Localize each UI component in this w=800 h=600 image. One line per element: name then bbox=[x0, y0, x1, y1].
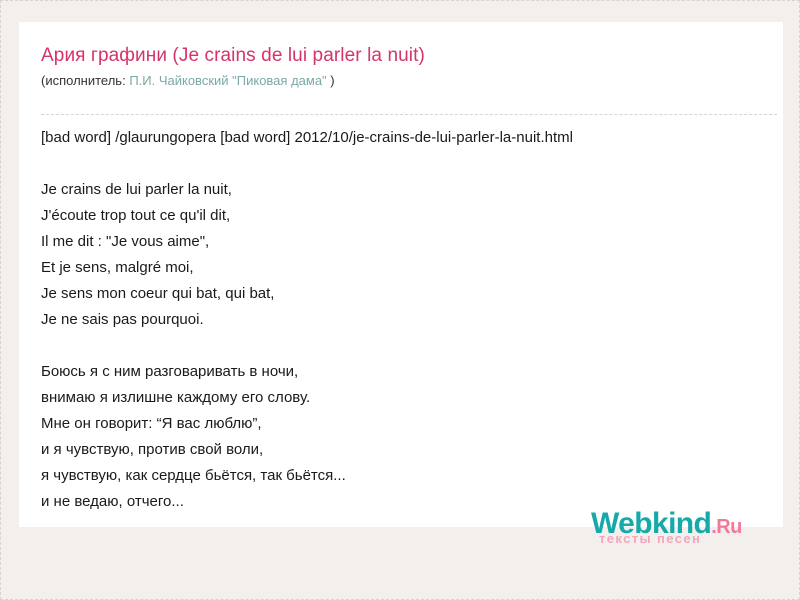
lyric-line: я чувствую, как сердце бьётся, так бьётс… bbox=[41, 463, 769, 489]
performer-link[interactable]: П.И. Чайковский "Пиковая дама" bbox=[129, 73, 326, 88]
performer-line: (исполнитель: П.И. Чайковский "Пиковая д… bbox=[41, 73, 767, 89]
performer-paren-close: ) bbox=[330, 73, 334, 88]
lyric-line: J'écoute trop tout ce qu'il dit, bbox=[41, 203, 769, 229]
lyric-line: Il me dit : "Je vous aime", bbox=[41, 229, 769, 255]
lyric-line: внимаю я излишне каждому его слову. bbox=[41, 385, 769, 411]
song-header: Ария графини (Je crains de lui parler la… bbox=[41, 44, 767, 89]
page-background: Ария графини (Je crains de lui parler la… bbox=[0, 0, 800, 600]
lyric-line: Je crains de lui parler la nuit, bbox=[41, 177, 769, 203]
logo-tagline: тексты песен bbox=[599, 531, 701, 546]
lyric-line: Je ne sais pas pourquoi. bbox=[41, 307, 769, 333]
site-logo[interactable]: Webkind.Ru тексты песен bbox=[591, 509, 787, 553]
logo-tld-text: .Ru bbox=[711, 516, 741, 538]
lyrics-body: [bad word] /glaurungopera [bad word] 201… bbox=[41, 125, 769, 515]
lyric-line: и я чувствую, против свой воли, bbox=[41, 437, 769, 463]
lyric-line: Мне он говорит: “Я вас люблю”, bbox=[41, 411, 769, 437]
verse-french: Je crains de lui parler la nuit, J'écout… bbox=[41, 177, 769, 333]
verse-russian: Боюсь я с ним разговаривать в ночи, вним… bbox=[41, 359, 769, 515]
lyric-line: Боюсь я с ним разговаривать в ночи, bbox=[41, 359, 769, 385]
page-title: Ария графини (Je crains de lui parler la… bbox=[41, 44, 767, 68]
performer-label: (исполнитель: bbox=[41, 73, 126, 88]
lyrics-content-card: Ария графини (Je crains de lui parler la… bbox=[19, 22, 783, 527]
lyric-line: Et je sens, malgré moi, bbox=[41, 255, 769, 281]
verse-spacer bbox=[41, 333, 769, 359]
verse-spacer bbox=[41, 151, 769, 177]
lyric-line: Je sens mon coeur qui bat, qui bat, bbox=[41, 281, 769, 307]
header-divider bbox=[41, 114, 777, 115]
lyrics-source-note: [bad word] /glaurungopera [bad word] 201… bbox=[41, 125, 769, 151]
